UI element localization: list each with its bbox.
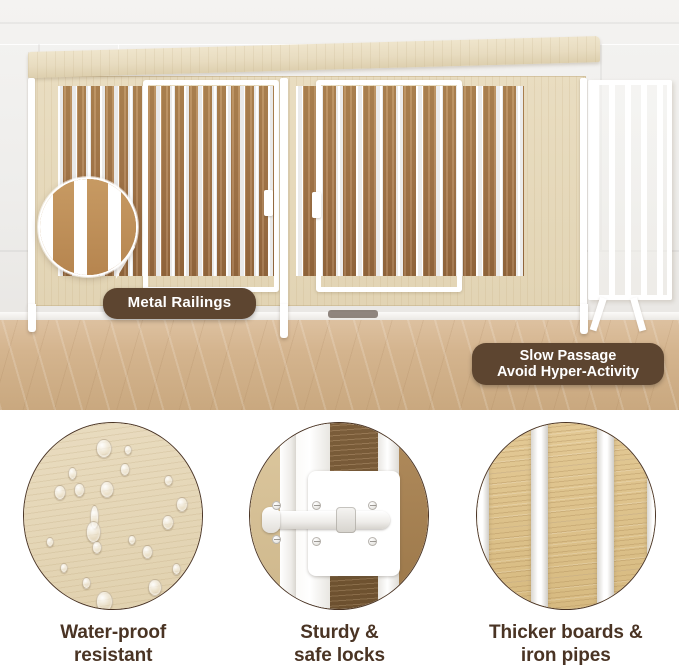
iron-pipe bbox=[597, 423, 614, 610]
water-droplet bbox=[68, 467, 77, 480]
caption-line-1: Sturdy & bbox=[294, 622, 385, 644]
feature-safe-locks: Sturdy & safe locks bbox=[226, 410, 452, 667]
water-droplet bbox=[82, 577, 91, 589]
water-droplet bbox=[54, 485, 66, 500]
feature-caption-thicker-boards: Thicker boards & iron pipes bbox=[489, 622, 643, 667]
water-droplet bbox=[92, 541, 102, 554]
feature-image-safe-locks bbox=[249, 422, 429, 610]
caption-line-2: resistant bbox=[60, 645, 166, 667]
crate-frame-post bbox=[28, 78, 35, 306]
iron-pipe bbox=[647, 423, 656, 610]
door-latch-left-icon[interactable] bbox=[264, 190, 273, 216]
wood-panel-right bbox=[398, 423, 428, 610]
iron-pipe bbox=[476, 423, 489, 610]
water-droplet bbox=[100, 481, 114, 498]
oak-board-surface bbox=[477, 423, 655, 610]
feature-thicker-boards: Thicker boards & iron pipes bbox=[453, 410, 679, 667]
hero-product-photo: Metal Railings Slow Passage Avoid Hyper-… bbox=[0, 0, 679, 410]
wall-molding-line bbox=[0, 22, 679, 24]
bolt-knob-icon bbox=[262, 507, 280, 533]
feature-strip: Water-proof resistant bbox=[0, 410, 679, 667]
water-droplet bbox=[86, 521, 101, 543]
feature-caption-water-proof: Water-proof resistant bbox=[60, 622, 166, 667]
badge-slow-passage-line1: Slow Passage bbox=[520, 348, 617, 364]
crate-leg bbox=[28, 304, 36, 332]
water-droplet bbox=[142, 545, 153, 559]
product-feature-page: Metal Railings Slow Passage Avoid Hyper-… bbox=[0, 0, 679, 667]
door-latch-right-icon[interactable] bbox=[312, 192, 321, 218]
bolt-collar bbox=[336, 507, 356, 533]
feature-image-thicker-boards bbox=[476, 422, 656, 610]
feature-water-proof: Water-proof resistant bbox=[0, 410, 226, 667]
barrel-bolt-icon bbox=[264, 511, 390, 529]
badge-metal-railings: Metal Railings bbox=[103, 288, 256, 319]
crate-door-left[interactable] bbox=[143, 80, 279, 292]
crate-leg bbox=[580, 304, 588, 334]
water-droplet bbox=[74, 483, 85, 497]
metal-railings-zoom-circle bbox=[38, 177, 138, 277]
badge-slow-passage-line2: Avoid Hyper-Activity bbox=[497, 364, 639, 380]
railing-bars bbox=[593, 85, 667, 295]
feature-image-water-proof bbox=[23, 422, 203, 610]
crate-frame-post bbox=[280, 78, 288, 306]
iron-pipe bbox=[531, 423, 548, 610]
crate-door-right[interactable] bbox=[316, 80, 462, 292]
badge-metal-railings-label: Metal Railings bbox=[128, 295, 232, 312]
water-droplet bbox=[120, 463, 130, 476]
water-droplet bbox=[96, 439, 112, 458]
crate-leg bbox=[280, 304, 288, 338]
zoom-railing-bars bbox=[40, 179, 136, 275]
wood-surface bbox=[24, 423, 202, 610]
caption-line-2: safe locks bbox=[294, 645, 385, 667]
water-droplet bbox=[96, 591, 113, 610]
side-door-support-brace bbox=[596, 298, 652, 332]
water-droplet bbox=[162, 515, 174, 530]
water-droplet bbox=[176, 497, 188, 512]
caption-line-1: Water-proof bbox=[60, 622, 166, 644]
crate-center-foot bbox=[328, 310, 378, 318]
crate-frame-post bbox=[580, 78, 587, 306]
feature-caption-safe-locks: Sturdy & safe locks bbox=[294, 622, 385, 667]
crate-side-door-open[interactable] bbox=[588, 80, 672, 300]
water-droplet bbox=[172, 563, 181, 575]
water-droplet bbox=[164, 475, 173, 486]
water-droplet bbox=[148, 579, 162, 596]
badge-slow-passage: Slow Passage Avoid Hyper-Activity bbox=[472, 343, 664, 385]
caption-line-2: iron pipes bbox=[489, 645, 643, 667]
caption-line-1: Thicker boards & bbox=[489, 622, 643, 644]
